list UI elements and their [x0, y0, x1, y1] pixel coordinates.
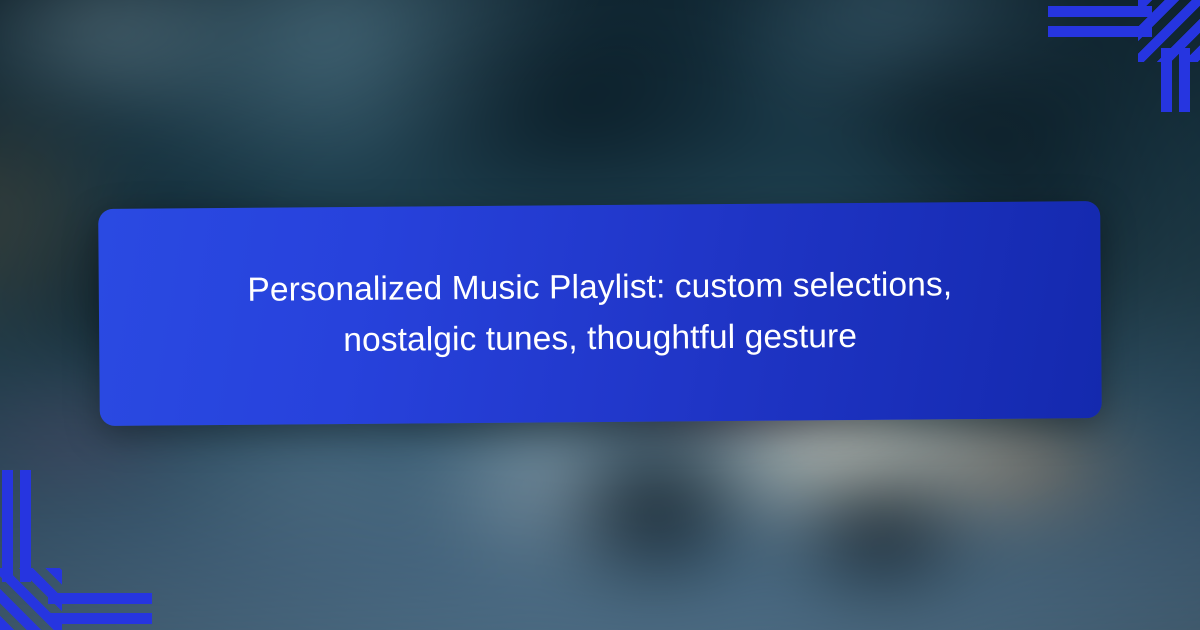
social-card-canvas: Personalized Music Playlist: custom sele… — [0, 0, 1200, 630]
title-card: Personalized Music Playlist: custom sele… — [98, 201, 1102, 426]
page-title: Personalized Music Playlist: custom sele… — [205, 259, 996, 367]
